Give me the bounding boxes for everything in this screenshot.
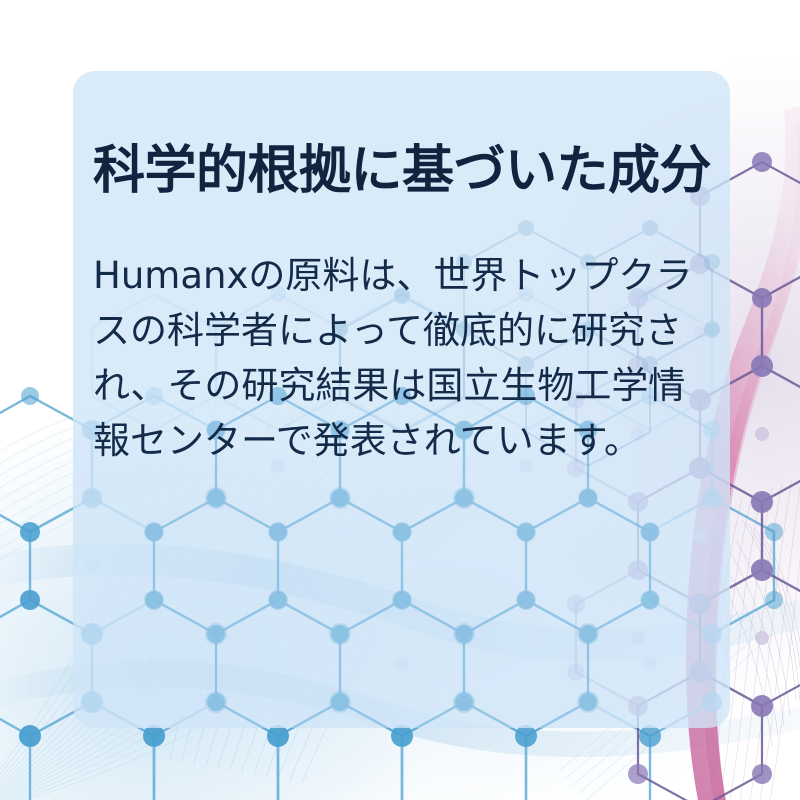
page-title: 科学的根拠に基づいた成分 bbox=[93, 140, 713, 202]
promo-graphic-root: 科学的根拠に基づいた成分 Humanxの原料は、世界トップクラスの科学者によって… bbox=[0, 0, 800, 800]
body-paragraph: Humanxの原料は、世界トップクラスの科学者によって徹底的に研究され、その研究… bbox=[93, 202, 708, 468]
text-block: 科学的根拠に基づいた成分 Humanxの原料は、世界トップクラスの科学者によって… bbox=[93, 140, 713, 468]
